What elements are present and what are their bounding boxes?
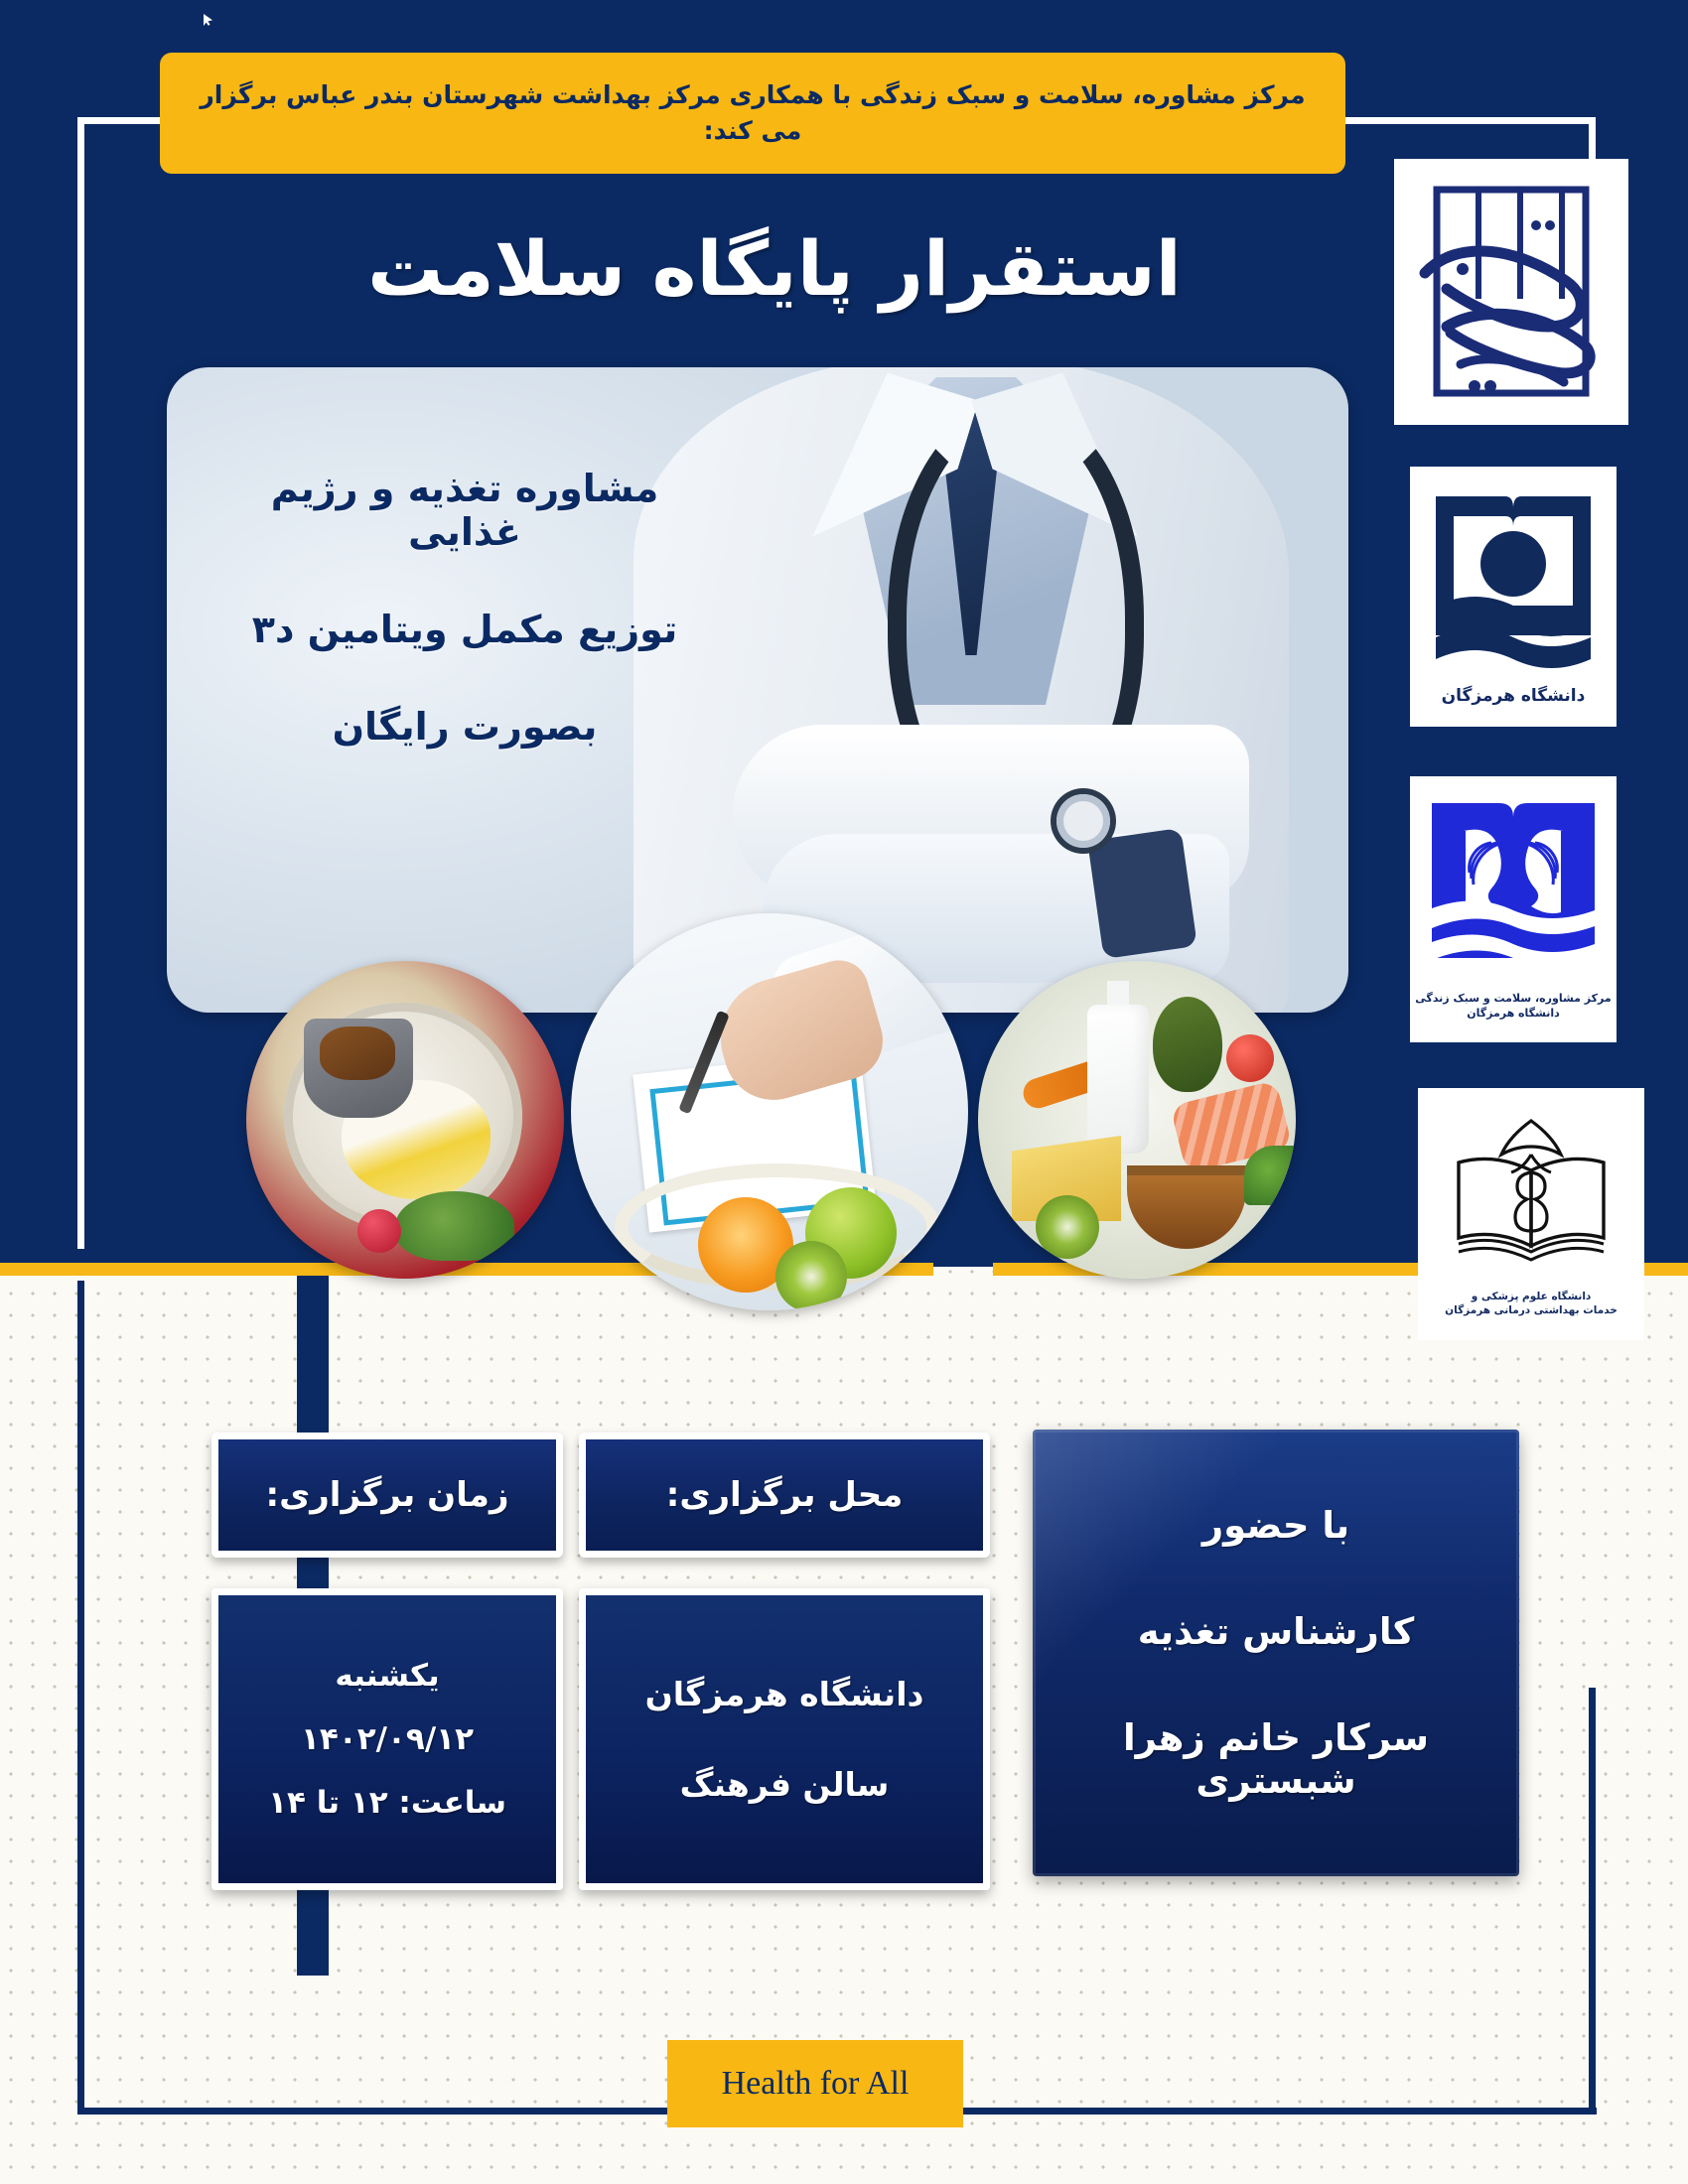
doctor-sleeve-cuff [1087, 828, 1197, 959]
time-value-box: یکشنبه ۱۴۰۲/۰۹/۱۲ ساعت: ۱۲ تا ۱۴ [211, 1588, 563, 1890]
student-organization-icon [1417, 178, 1606, 406]
kiwi-slice-shape [1036, 1195, 1099, 1259]
logo-student-organization [1394, 159, 1628, 425]
hero-service-line-1: مشاوره تغذیه و رژیم غذایی [216, 467, 713, 554]
place-header-box: محل برگزاری: [579, 1433, 990, 1558]
logo-counseling-center-caption-1: مرکز مشاوره، سلامت و سبک زندگی [1415, 992, 1611, 1007]
grain-bowl-shape [1127, 1165, 1246, 1249]
hero-service-line-2: توزیع مکمل ویتامین د۳ [216, 608, 713, 651]
kiwi-fruit-shape [775, 1241, 847, 1310]
radish-shape [357, 1209, 401, 1253]
speaker-lead: با حضور [1185, 1504, 1367, 1547]
event-date: ۱۴۰۲/۰۹/۱۲ [301, 1721, 474, 1757]
white-frame-horizontal-right [1331, 117, 1596, 124]
page-title: استقرار پایگاه سلامت [328, 204, 1221, 333]
event-hall: سالن فرهنگ [680, 1765, 890, 1804]
logo-counseling-center: مرکز مشاوره، سلامت و سبک زندگی دانشگاه ه… [1410, 776, 1617, 1042]
wristwatch-icon [1056, 794, 1110, 848]
logo-hormozgan-university-caption: دانشگاه هرمزگان [1442, 685, 1586, 708]
time-header-box: زمان برگزاری: [211, 1433, 563, 1558]
logo-counseling-center-caption-2: دانشگاه هرمزگان [1467, 1007, 1560, 1022]
announcement-banner-text: مرکز مشاوره، سلامت و سبک زندگی با همکاری… [162, 77, 1343, 150]
event-hours: ساعت: ۱۲ تا ۱۴ [268, 1785, 506, 1821]
logo-hormozgan-university: دانشگاه هرمزگان [1410, 467, 1617, 727]
photo-circle-consultation [571, 913, 968, 1310]
event-venue: دانشگاه هرمزگان [645, 1675, 924, 1713]
speaker-box: با حضور کارشناس تغذیه سرکار خانم زهرا شب… [1033, 1430, 1519, 1876]
hero-service-list: مشاوره تغذیه و رژیم غذایی توزیع مکمل ویت… [216, 467, 713, 802]
photo-circle-persian-food [246, 961, 564, 1279]
speaker-role: کارشناس تغذیه [1120, 1610, 1433, 1653]
book-sun-waves-icon [1430, 486, 1597, 681]
hero-service-line-3: بصورت رایگان [216, 705, 713, 749]
meat-shape [320, 1026, 395, 1080]
place-value-box: دانشگاه هرمزگان سالن فرهنگ [579, 1588, 990, 1890]
fresh-herbs-shape [395, 1191, 514, 1261]
basil-leaf-shape [1244, 1146, 1296, 1205]
tomato-shape [1226, 1034, 1274, 1082]
navy-frame-vertical-bottom-right [1589, 1688, 1596, 2115]
footer-slogan-badge: Health for All [667, 2040, 963, 2127]
open-book-mihrab-icon [1437, 1111, 1625, 1290]
event-day: یکشنبه [335, 1658, 439, 1694]
photo-circle-healthy-foods [978, 961, 1296, 1279]
navy-frame-vertical-bottom [77, 1281, 84, 2115]
logo-medical-sciences-university: دانشگاه علوم پزشکی و خدمات بهداشتی درمان… [1418, 1088, 1644, 1340]
logo-medical-sciences-caption-1: دانشگاه علوم پزشکی و [1472, 1290, 1592, 1303]
milk-bottle-shape [1087, 1005, 1149, 1154]
speaker-name: سرکار خانم زهرا شبستری [1033, 1716, 1519, 1802]
poster-canvas: مرکز مشاوره، سلامت و سبک زندگی با همکاری… [0, 0, 1688, 2184]
two-faces-book-icon [1426, 797, 1601, 992]
announcement-banner: مرکز مشاوره، سلامت و سبک زندگی با همکاری… [162, 55, 1343, 172]
logo-medical-sciences-caption-2: خدمات بهداشتی درمانی هرمزگان [1445, 1303, 1618, 1317]
avocado-shape [1153, 997, 1222, 1092]
white-frame-vertical [77, 117, 84, 1249]
